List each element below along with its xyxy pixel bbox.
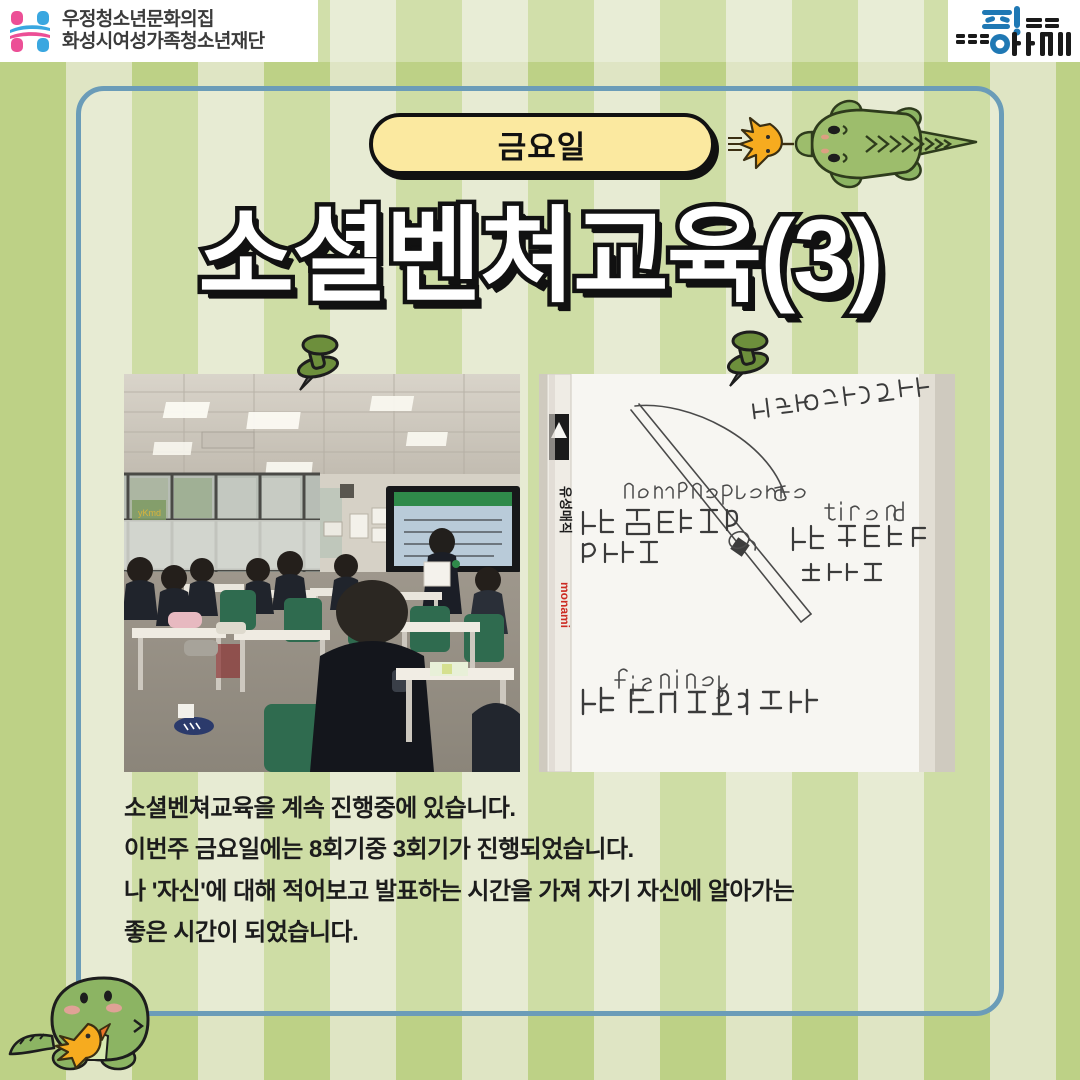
day-badge-label: 금요일 bbox=[498, 122, 587, 167]
green-push-pin-left bbox=[286, 334, 348, 392]
body-line-3: 나 '자신'에 대해 적어보고 발표하는 시간을 가져 자기 자신에 알아가는 bbox=[124, 871, 884, 912]
svg-text:yKmd: yKmd bbox=[138, 508, 161, 518]
organization-line-1: 우정청소년문화의집 bbox=[62, 9, 265, 31]
crocodile-with-chick-top bbox=[726, 96, 980, 192]
svg-text:유성매직: 유성매직 bbox=[558, 486, 573, 534]
green-push-pin-right bbox=[716, 330, 778, 388]
day-badge: 금요일 bbox=[369, 113, 715, 175]
body-line-1: 소셜벤쳐교육을 계속 진행중에 있습니다. bbox=[124, 788, 884, 829]
organization-logo: 우정청소년문화의집 화성시여성가족청소년재단 bbox=[0, 0, 318, 62]
handwritten-worksheet-photo: 유성매직 monami bbox=[539, 374, 955, 772]
hwaseong-foundation-h-mark bbox=[8, 8, 52, 54]
page-title: 소셜벤쳐교육(3) bbox=[0, 196, 1080, 319]
academy-logo bbox=[948, 0, 1080, 62]
after-school-youth-academy-logo bbox=[952, 4, 1076, 58]
crocodile-icon bbox=[796, 96, 976, 192]
body-line-2: 이번주 금요일에는 8회기중 3회기가 진행되었습니다. bbox=[124, 829, 884, 870]
organization-line-2: 화성시여성가족청소년재단 bbox=[62, 31, 265, 53]
body-line-4: 좋은 시간이 되었습니다. bbox=[124, 912, 884, 953]
organization-logo-text: 우정청소년문화의집 화성시여성가족청소년재단 bbox=[62, 9, 265, 54]
crocodile-with-chick-bottom bbox=[8, 962, 172, 1080]
classroom-presentation-photo: yKmd bbox=[124, 374, 520, 772]
svg-text:monami: monami bbox=[558, 582, 572, 628]
body-copy: 소셜벤쳐교육을 계속 진행중에 있습니다. 이번주 금요일에는 8회기중 3회기… bbox=[124, 788, 884, 953]
chick-icon bbox=[728, 118, 794, 168]
poster-canvas: 우정청소년문화의집 화성시여성가족청소년재단 bbox=[0, 0, 1080, 1080]
